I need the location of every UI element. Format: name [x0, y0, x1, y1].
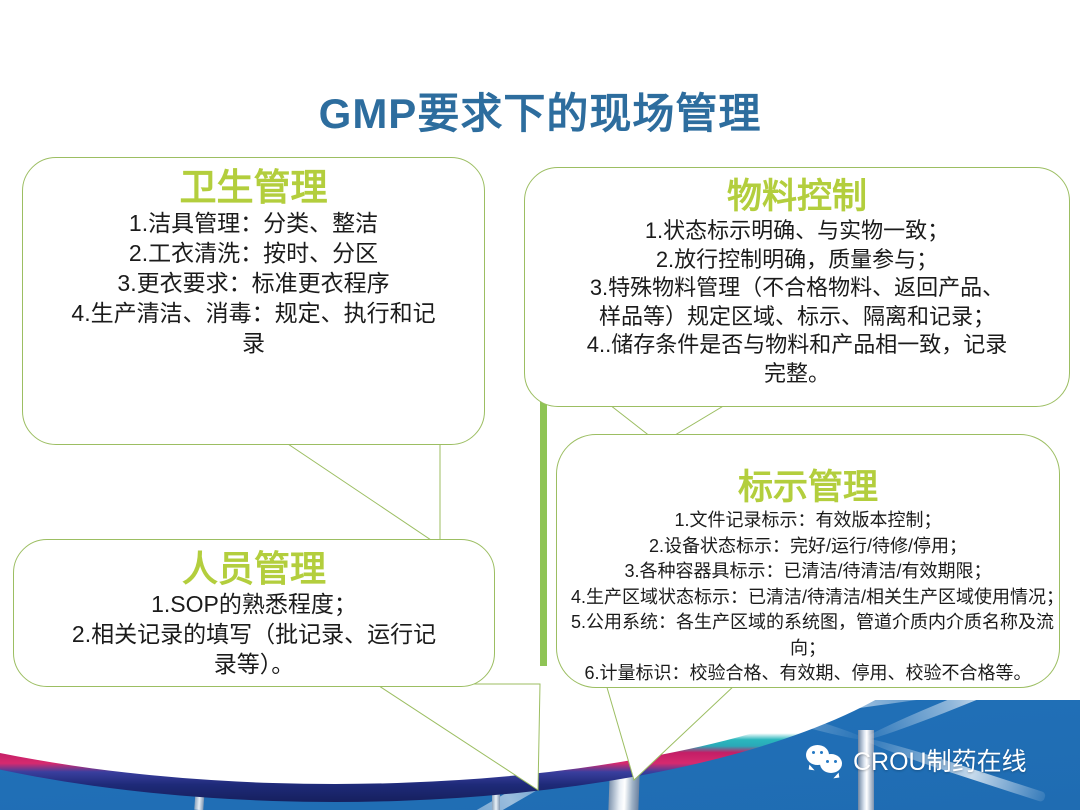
- callout-line: 向；: [571, 636, 1045, 662]
- callout-line: 录: [37, 329, 470, 359]
- callout-line: 3.各种容器具标示：已清洁/待清洁/有效期限；: [571, 559, 1045, 585]
- callout-line: 1.SOP的熟悉程度；: [28, 590, 480, 620]
- callout-heading: 标示管理: [571, 445, 1045, 506]
- callout-line: 3.更衣要求：标准更衣程序: [37, 269, 470, 299]
- callout-body: 1.状态标示明确、与实物一致； 2.放行控制明确，质量参与； 3.特殊物料管理（…: [539, 217, 1055, 389]
- callout-hygiene-management[interactable]: 卫生管理 1.洁具管理：分类、整洁 2.工衣清洗：按时、分区 3.更衣要求：标准…: [22, 157, 485, 445]
- callout-line: 5.公用系统：各生产区域的系统图，管道介质内介质名称及流: [571, 610, 1045, 636]
- callout-line: 1.洁具管理：分类、整洁: [37, 209, 470, 239]
- callout-body: 1.文件记录标示：有效版本控制； 2.设备状态标示：完好/运行/待修/停用； 3…: [571, 508, 1045, 687]
- callout-line: 4..储存条件是否与物料和产品相一致，记录: [539, 331, 1055, 360]
- page-title: GMP要求下的现场管理: [0, 80, 1080, 141]
- callout-line: 2.相关记录的填写（批记录、运行记: [28, 620, 480, 650]
- callout-tail-label: [596, 680, 746, 790]
- callout-tail-people: [370, 680, 550, 798]
- callout-line: 2.放行控制明确，质量参与；: [539, 246, 1055, 275]
- connector-bar: [540, 398, 547, 666]
- callout-line: 4.生产区域状态标示：已清洁/待清洁/相关生产区域使用情况；: [571, 585, 1045, 611]
- watermark: CROU制药在线: [806, 742, 1027, 778]
- callout-personnel-management[interactable]: 人员管理 1.SOP的熟悉程度； 2.相关记录的填写（批记录、运行记 录等）。: [13, 539, 495, 687]
- watermark-label: CROU制药在线: [853, 742, 1027, 778]
- callout-body: 1.洁具管理：分类、整洁 2.工衣清洗：按时、分区 3.更衣要求：标准更衣程序 …: [37, 209, 470, 358]
- callout-heading: 卫生管理: [37, 168, 470, 207]
- wechat-icon: [806, 745, 844, 775]
- callout-line: 1.文件记录标示：有效版本控制；: [571, 508, 1045, 534]
- callout-line: 3.特殊物料管理（不合格物料、返回产品、: [539, 274, 1055, 303]
- callout-line: 完整。: [539, 360, 1055, 389]
- callout-heading: 人员管理: [28, 550, 480, 588]
- callout-label-management[interactable]: 标示管理 1.文件记录标示：有效版本控制； 2.设备状态标示：完好/运行/待修/…: [556, 434, 1060, 688]
- callout-line: 4.生产清洁、消毒：规定、执行和记: [37, 299, 470, 329]
- callout-line: 6.计量标识：校验合格、有效期、停用、校验不合格等。: [571, 661, 1045, 687]
- callout-line: 样品等）规定区域、标示、隔离和记录；: [539, 303, 1055, 332]
- callout-material-control[interactable]: 物料控制 1.状态标示明确、与实物一致； 2.放行控制明确，质量参与； 3.特殊…: [524, 167, 1070, 407]
- callout-line: 录等）。: [28, 650, 480, 680]
- callout-heading: 物料控制: [539, 178, 1055, 215]
- callout-line: 1.状态标示明确、与实物一致；: [539, 217, 1055, 246]
- callout-line: 2.工衣清洗：按时、分区: [37, 239, 470, 269]
- slide-canvas: GMP要求下的现场管理 卫生管理 1.洁具管理：分类、整洁 2.工衣清洗：按时、…: [0, 0, 1080, 810]
- callout-body: 1.SOP的熟悉程度； 2.相关记录的填写（批记录、运行记 录等）。: [28, 590, 480, 680]
- callout-line: 2.设备状态标示：完好/运行/待修/停用；: [571, 534, 1045, 560]
